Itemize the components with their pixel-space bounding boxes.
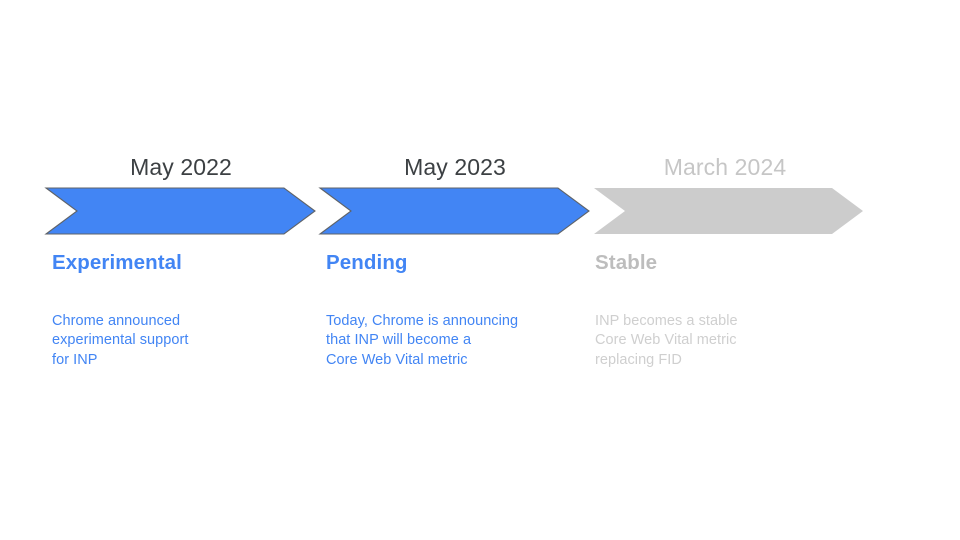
- description-line: replacing FID: [595, 351, 857, 370]
- chevron-pending: [320, 188, 589, 234]
- stage-column-stable: Stable INP becomes a stable Core Web Vit…: [595, 250, 857, 370]
- stage-date-experimental: May 2022: [46, 152, 316, 182]
- description-line: for INP: [52, 351, 314, 370]
- description-line: Today, Chrome is announcing: [326, 312, 588, 331]
- chevron-arrow-band: [0, 186, 960, 236]
- description-line: Chrome announced: [52, 312, 314, 331]
- stage-date-pending: May 2023: [320, 152, 590, 182]
- stage-column-pending: Pending Today, Chrome is announcing that…: [326, 250, 588, 370]
- description-line: INP becomes a stable: [595, 312, 857, 331]
- chevron-experimental: [46, 188, 315, 234]
- stage-heading-experimental: Experimental: [52, 250, 314, 276]
- chevron-stable: [594, 188, 863, 234]
- description-line: Core Web Vital metric: [326, 351, 588, 370]
- stage-heading-stable: Stable: [595, 250, 857, 276]
- stage-description-stable: INP becomes a stable Core Web Vital metr…: [595, 276, 857, 370]
- description-line: experimental support: [52, 331, 314, 350]
- stage-description-pending: Today, Chrome is announcing that INP wil…: [326, 276, 588, 370]
- description-line: Core Web Vital metric: [595, 331, 857, 350]
- stage-date-stable: March 2024: [590, 152, 860, 182]
- timeline-diagram: May 2022 May 2023 March 2024 Experimenta…: [0, 0, 960, 540]
- description-line: that INP will become a: [326, 331, 588, 350]
- stage-column-experimental: Experimental Chrome announced experiment…: [52, 250, 314, 370]
- stage-description-experimental: Chrome announced experimental support fo…: [52, 276, 314, 370]
- stage-heading-pending: Pending: [326, 250, 588, 276]
